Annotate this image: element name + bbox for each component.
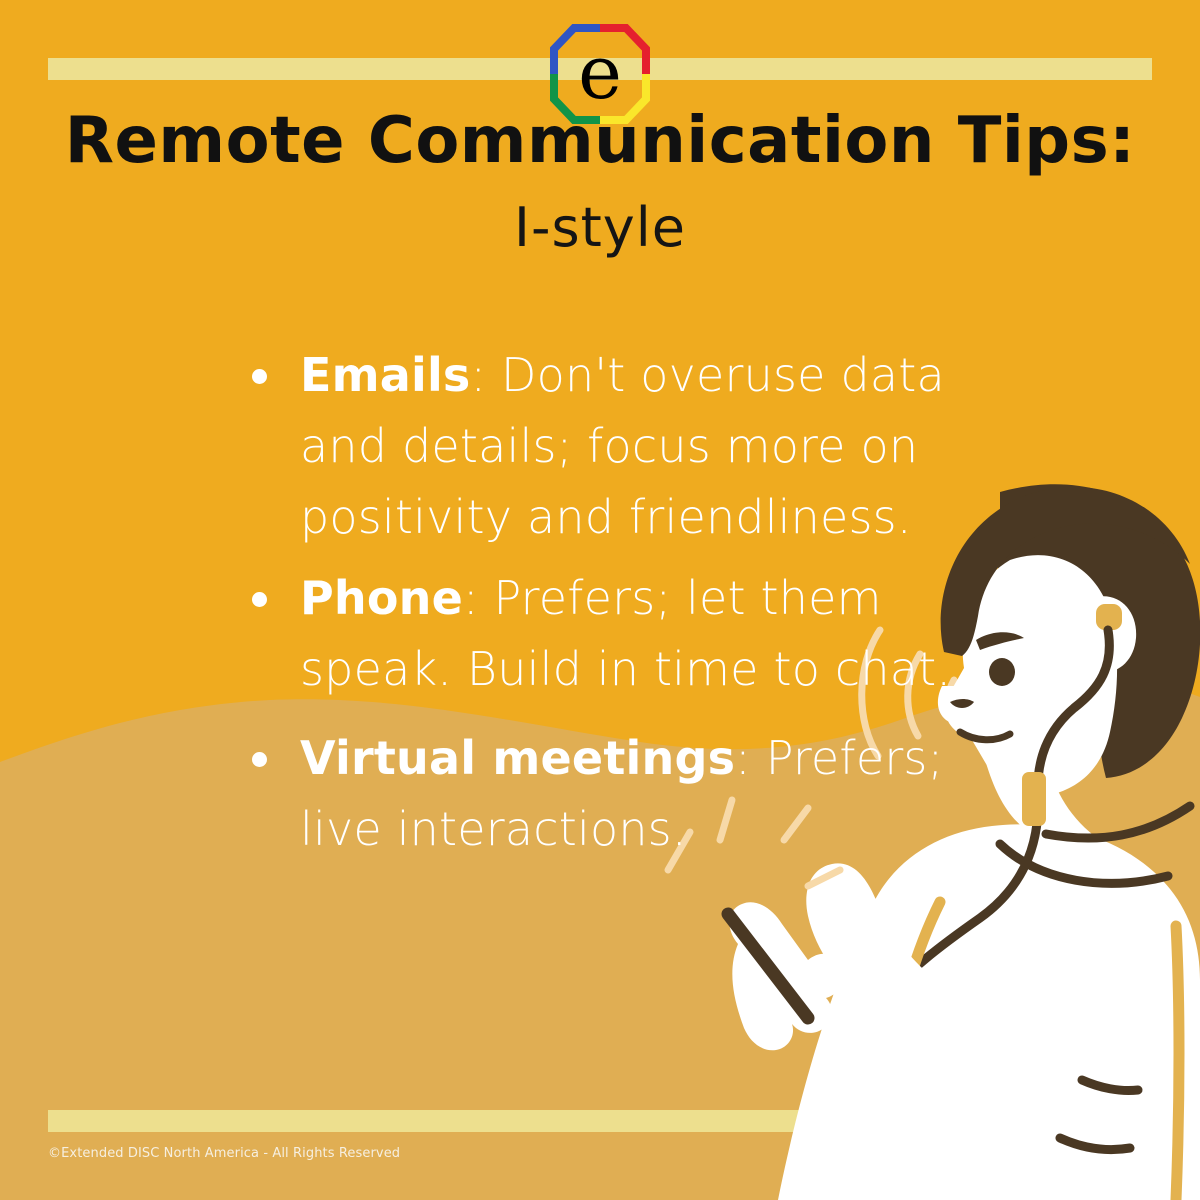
bullet-dot-icon <box>252 752 267 767</box>
list-item: Virtual meetings: Prefers; live interact… <box>238 723 1008 865</box>
tip-separator: : <box>735 731 766 785</box>
extended-disc-logo: e <box>547 22 653 126</box>
bullet-dot-icon <box>252 592 267 607</box>
copyright-footer: ©Extended DISC North America - All Right… <box>48 1146 400 1161</box>
tip-lead: Emails <box>300 348 471 402</box>
poster-canvas: e Remote Communication Tips: I-style Ema… <box>0 0 1200 1200</box>
list-item: Emails: Don't overuse data and details; … <box>238 340 1008 553</box>
logo-letter-e: e <box>578 30 622 116</box>
tip-separator: : <box>463 571 494 625</box>
page-subtitle: I-style <box>0 198 1200 257</box>
tip-lead: Virtual meetings <box>300 731 735 785</box>
list-item: Phone: Prefers; let them speak. Build in… <box>238 563 1008 705</box>
cable-clip <box>1022 772 1046 826</box>
shirt-accent-stripe-right <box>1176 926 1179 1200</box>
bullet-dot-icon <box>252 369 267 384</box>
tip-lead: Phone <box>300 571 463 625</box>
tip-separator: : <box>471 348 502 402</box>
tips-list: Emails: Don't overuse data and details; … <box>238 340 1008 875</box>
